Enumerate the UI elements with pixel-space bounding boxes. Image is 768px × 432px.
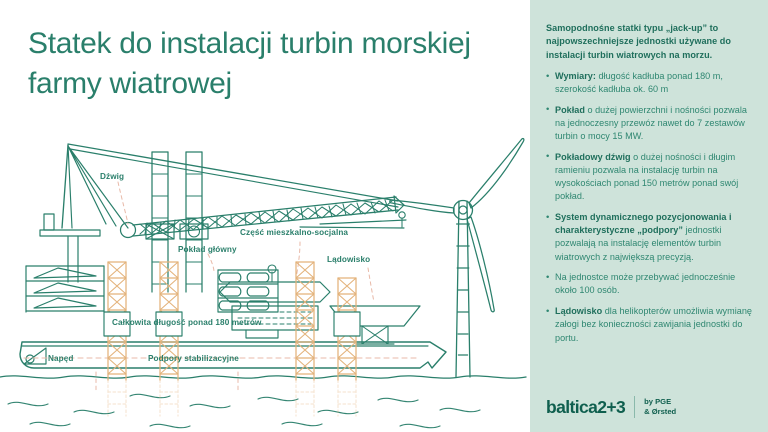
sea-surface: [0, 376, 526, 378]
logo-byline-line2: & Ørsted: [644, 407, 676, 416]
panel-bullet-lead: System dynamicznego pozycjonowania i cha…: [555, 212, 732, 235]
label-total-length: Całkowita długość ponad 180 metrów: [112, 318, 261, 327]
page-title: Statek do instalacji turbin morskiej far…: [28, 24, 498, 104]
label-accommodation: Część mieszkalno-socjalna: [240, 228, 348, 237]
cargo-blade-stack: [26, 266, 104, 312]
label-stabilizing-legs: Podpory stabilizacyjne: [148, 354, 239, 363]
panel-bullet-list: Wymiary: długość kadłuba ponad 180 m, sz…: [546, 70, 754, 345]
label-propulsion: Napęd: [48, 354, 74, 363]
panel-bullet-5: Na jednostce może przebywać jednocześnie…: [546, 271, 754, 297]
propulsion-thruster: [24, 348, 46, 364]
panel-bullet-1: Wymiary: długość kadłuba ponad 180 m, sz…: [546, 70, 754, 96]
logo-byline: by PGE & Ørsted: [644, 397, 676, 416]
jackup-vessel-illustration: [0, 96, 530, 432]
panel-bullet-lead: Pokładowy dźwig: [555, 152, 631, 162]
panel-bullet-lead: Lądowisko: [555, 306, 602, 316]
wind-turbine: [390, 139, 524, 377]
stabilizing-legs: [104, 262, 360, 416]
label-helipad: Lądowisko: [327, 255, 370, 264]
panel-bullet-lead: Pokład: [555, 105, 585, 115]
logo-wordmark: baltica2+3: [546, 397, 625, 418]
logo-divider: [634, 396, 635, 418]
infographic-page: Statek do instalacji turbin morskiej far…: [0, 0, 768, 432]
info-panel: Samopodnośne statki typu „jack-up” to na…: [530, 0, 768, 432]
panel-bullet-2: Pokład o dużej powierzchni i nośności po…: [546, 104, 754, 144]
illustration-panel: Statek do instalacji turbin morskiej far…: [0, 0, 530, 432]
panel-bullet-3: Pokładowy dźwig o dużej nośności i długi…: [546, 151, 754, 204]
label-crane: Dźwig: [100, 172, 124, 181]
panel-bullet-4: System dynamicznego pozycjonowania i cha…: [546, 211, 754, 264]
sea-waves: [8, 394, 480, 427]
logo-byline-line1: by PGE: [644, 397, 671, 406]
label-main-deck: Pokład główny: [178, 245, 237, 254]
panel-bullet-6: Lądowisko dla helikopterów umożliwia wym…: [546, 305, 754, 345]
baltica-logo: baltica2+3 by PGE & Ørsted: [546, 396, 676, 418]
panel-bullet-lead: Wymiary:: [555, 71, 596, 81]
panel-intro: Samopodnośne statki typu „jack-up” to na…: [546, 22, 754, 62]
